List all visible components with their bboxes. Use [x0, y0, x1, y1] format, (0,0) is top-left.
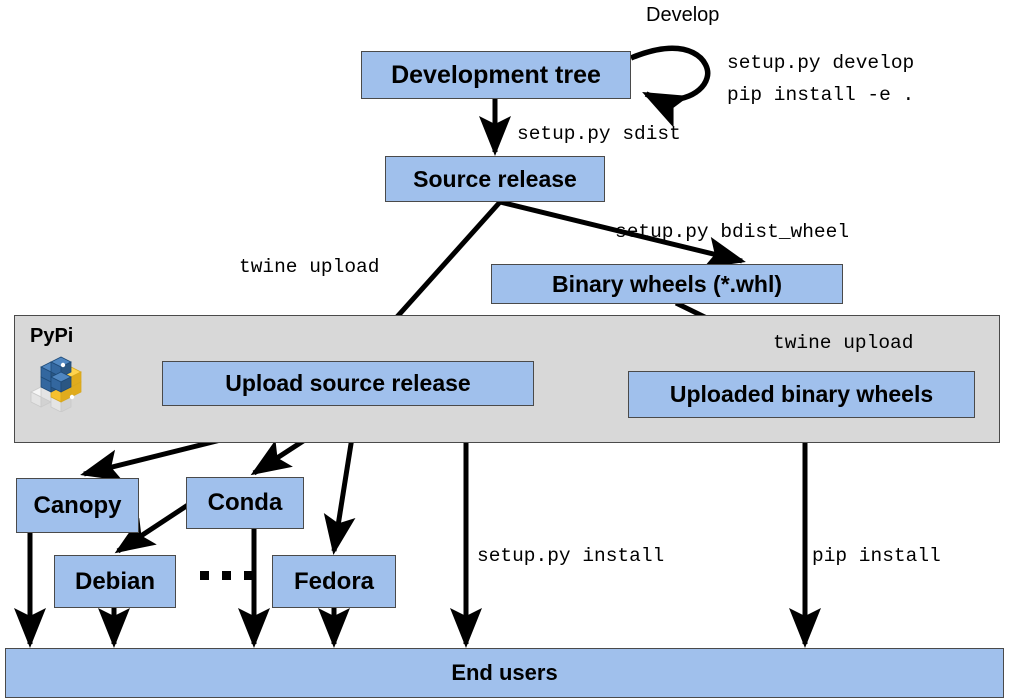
node-binary-wheels[interactable]: Binary wheels (*.whl) — [491, 264, 843, 304]
edge-develop-selfloop — [631, 48, 708, 99]
ellipsis-dot-1 — [200, 571, 209, 580]
node-canopy[interactable]: Canopy — [16, 478, 139, 533]
label-setup-py-bdist-wheel: setup.py bdist_wheel — [615, 221, 849, 243]
node-upload-source-release[interactable]: Upload source release — [162, 361, 534, 406]
ellipsis-dots — [200, 571, 253, 580]
ellipsis-dot-2 — [222, 571, 231, 580]
label-setup-py-sdist: setup.py sdist — [517, 123, 681, 145]
label-pip-install-editable: pip install -e . — [727, 84, 914, 106]
label-setup-py-install: setup.py install — [477, 545, 664, 567]
ellipsis-dot-3 — [244, 571, 253, 580]
node-conda[interactable]: Conda — [186, 477, 304, 529]
label-twine-upload-source: twine upload — [239, 256, 379, 278]
pypi-python-cubes-logo — [27, 356, 89, 412]
label-pip-install: pip install — [812, 545, 941, 567]
label-develop: Develop — [646, 4, 719, 27]
pypi-band-label: PyPi — [30, 325, 73, 348]
node-source-release[interactable]: Source release — [385, 156, 605, 202]
packaging-flow-diagram: PyPi — [0, 0, 1009, 698]
node-development-tree[interactable]: Development tree — [361, 51, 631, 99]
node-debian[interactable]: Debian — [54, 555, 176, 608]
label-twine-upload-wheels: twine upload — [773, 332, 913, 354]
node-end-users[interactable]: End users — [5, 648, 1004, 698]
node-uploaded-binary-wheels[interactable]: Uploaded binary wheels — [628, 371, 975, 418]
node-fedora[interactable]: Fedora — [272, 555, 396, 608]
label-setup-py-develop: setup.py develop — [727, 52, 914, 74]
